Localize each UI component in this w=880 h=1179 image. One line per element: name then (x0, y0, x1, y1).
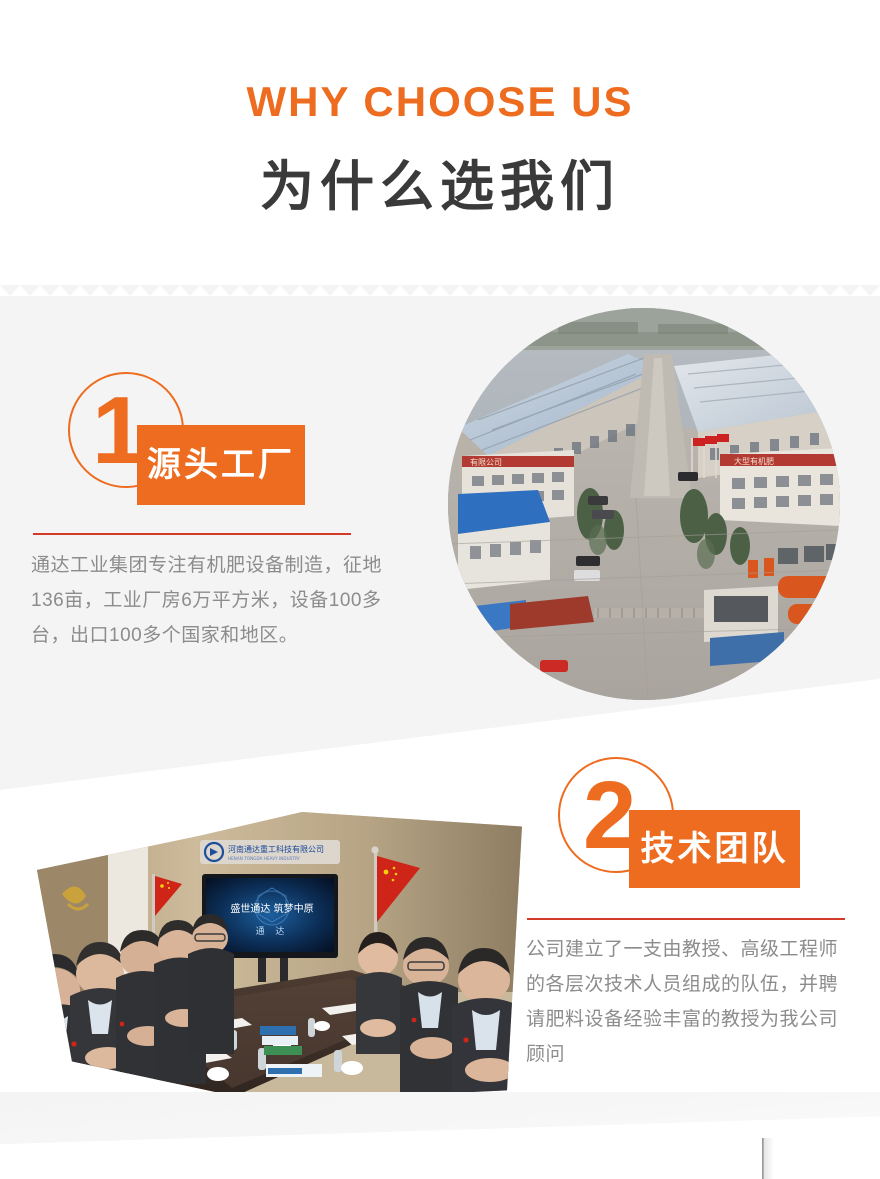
bottom-vertical-divider (762, 1138, 764, 1179)
meeting-wall-company-text: 河南通达重工科技有限公司 (228, 844, 324, 854)
feature-1-divider (33, 533, 351, 535)
feature-2-divider (527, 918, 845, 920)
feature-2-description: 公司建立了一支由教授、高级工程师的各层次技术人员组成的队伍，并聘请肥料设备经验丰… (526, 932, 856, 1072)
meeting-screen-title-text: 盛世通达 筑梦中原 (230, 902, 313, 915)
bottom-diagonal-band (0, 1092, 880, 1179)
svg-text:HENAN TONGDA HEAVY INDUSTRY: HENAN TONGDA HEAVY INDUSTRY (228, 856, 300, 861)
page-header: WHY CHOOSE US 为什么选我们 (0, 0, 880, 285)
feature-1-description: 通达工业集团专注有机肥设备制造，征地136亩，工业厂房6万平方米，设备100多台… (31, 548, 391, 653)
sawtooth-divider (0, 285, 880, 296)
meeting-screen-brand-text: 通 达 (256, 925, 289, 937)
feature-1-photo-factory-aerial: 有限公司 大型有机肥 (448, 308, 840, 700)
page-title-english: WHY CHOOSE US (0, 78, 880, 126)
factory-sign-right-text: 大型有机肥 (734, 456, 774, 466)
factory-sign-left-text: 有限公司 (470, 457, 502, 467)
feature-2-label-box: 技术团队 (629, 810, 800, 888)
feature-1-label-box: 源头工厂 (137, 425, 305, 505)
page-title-chinese: 为什么选我们 (0, 152, 880, 222)
feature-2-label: 技术团队 (641, 829, 789, 869)
bottom-divider-shadow (764, 1138, 774, 1179)
promo-page: WHY CHOOSE US 为什么选我们 (0, 0, 880, 1179)
feature-2-photo-meeting-room: 河南通达重工科技有限公司 HENAN TONGDA HEAVY INDUSTRY… (22, 812, 522, 1102)
feature-1-label: 源头工厂 (147, 445, 295, 485)
